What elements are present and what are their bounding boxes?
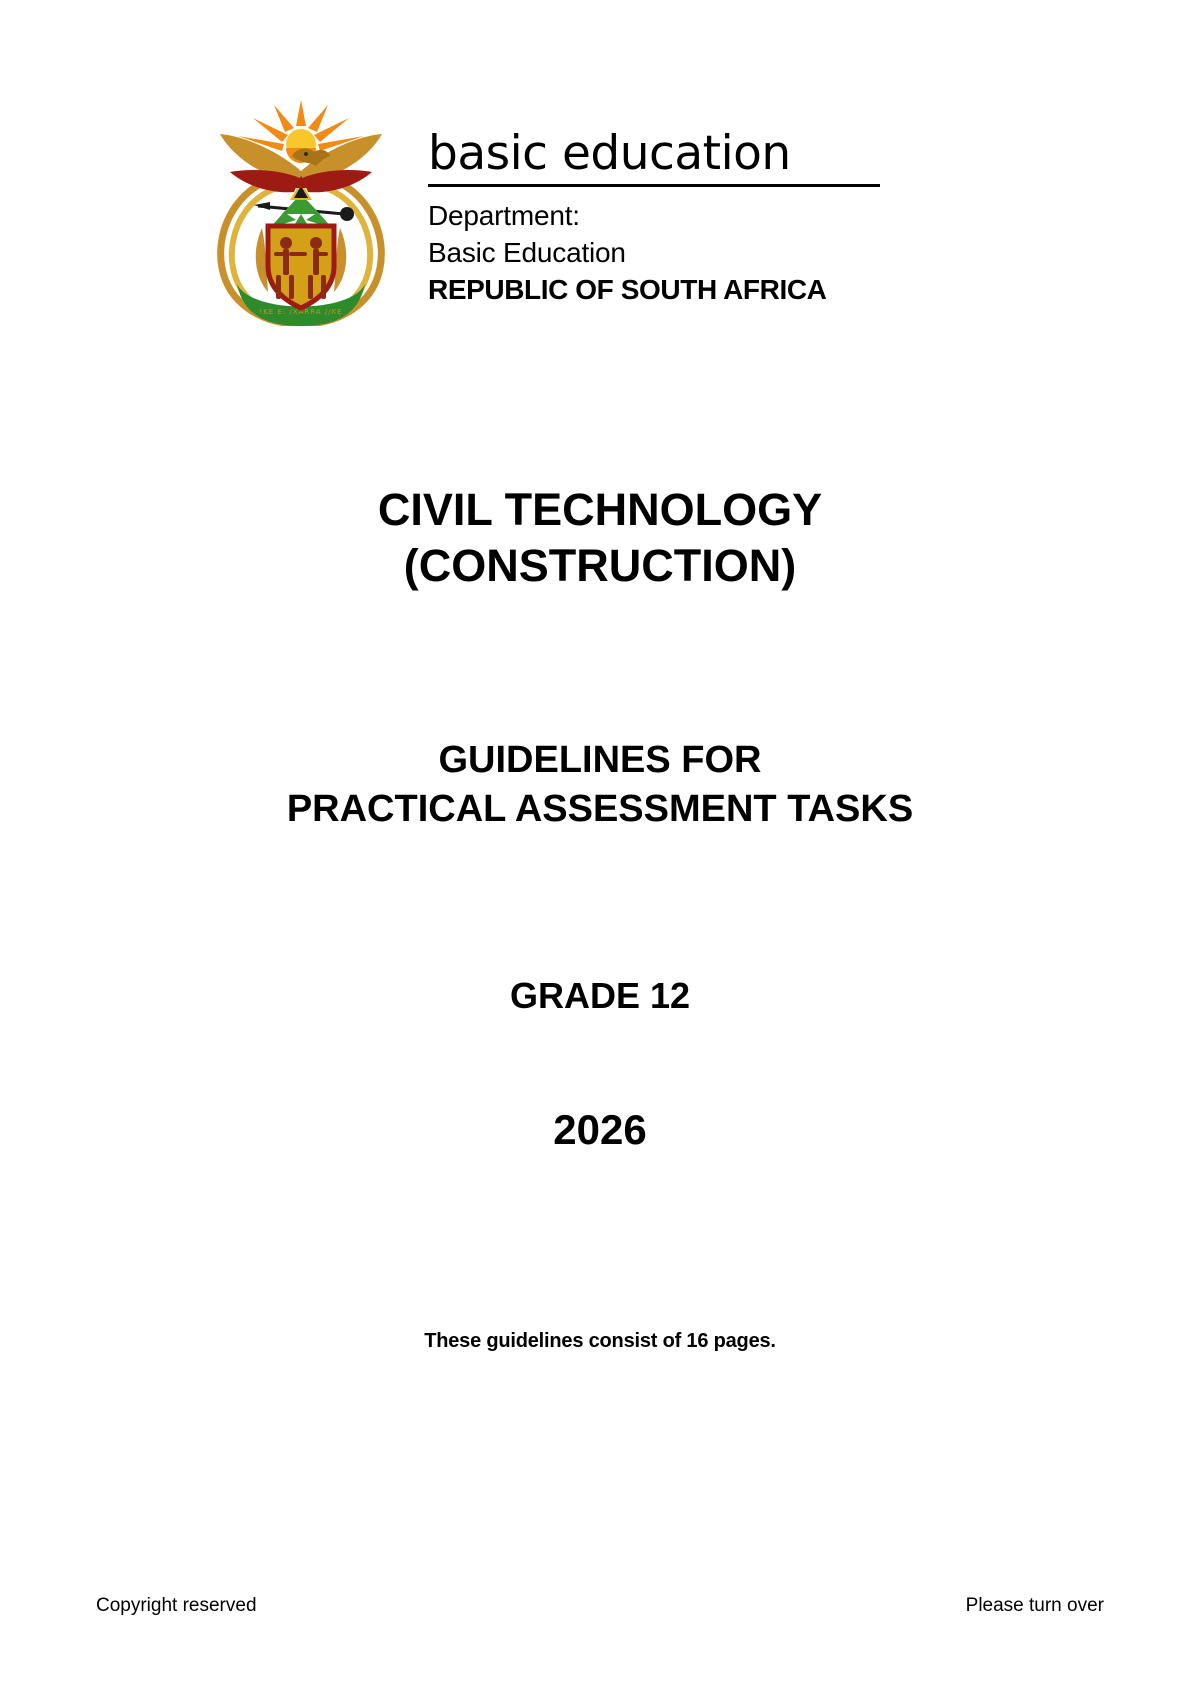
grade-label: GRADE 12 [0, 975, 1200, 1017]
basic-education-wordmark: basic education [428, 130, 898, 178]
department-letterhead: !KE E: /XARRA //KE [196, 78, 898, 326]
department-name: Basic Education [428, 234, 898, 271]
document-title-line-1: GUIDELINES FOR [0, 736, 1200, 785]
subject-title-line-2: (CONSTRUCTION) [0, 538, 1200, 594]
year-label: 2026 [0, 1106, 1200, 1154]
wordmark-underline [428, 184, 880, 187]
brand-text-block: basic education Department: Basic Educat… [428, 78, 898, 309]
subject-title: CIVIL TECHNOLOGY (CONSTRUCTION) [0, 482, 1200, 595]
copyright-notice: Copyright reserved [96, 1595, 257, 1617]
subject-title-line-1: CIVIL TECHNOLOGY [0, 482, 1200, 538]
document-title-line-2: PRACTICAL ASSESSMENT TASKS [0, 785, 1200, 834]
south-african-coat-of-arms-icon: !KE E: /XARRA //KE [196, 78, 406, 326]
page-count-note: These guidelines consist of 16 pages. [0, 1330, 1200, 1353]
country-name: REPUBLIC OF SOUTH AFRICA [428, 271, 898, 308]
department-lines: Department: Basic Education REPUBLIC OF … [428, 197, 898, 309]
department-label: Department: [428, 197, 898, 234]
document-title: GUIDELINES FOR PRACTICAL ASSESSMENT TASK… [0, 736, 1200, 835]
turn-over-notice: Please turn over [966, 1595, 1104, 1617]
page-footer: Copyright reserved Please turn over [96, 1595, 1104, 1617]
exam-cover-page: !KE E: /XARRA //KE [0, 0, 1200, 1696]
